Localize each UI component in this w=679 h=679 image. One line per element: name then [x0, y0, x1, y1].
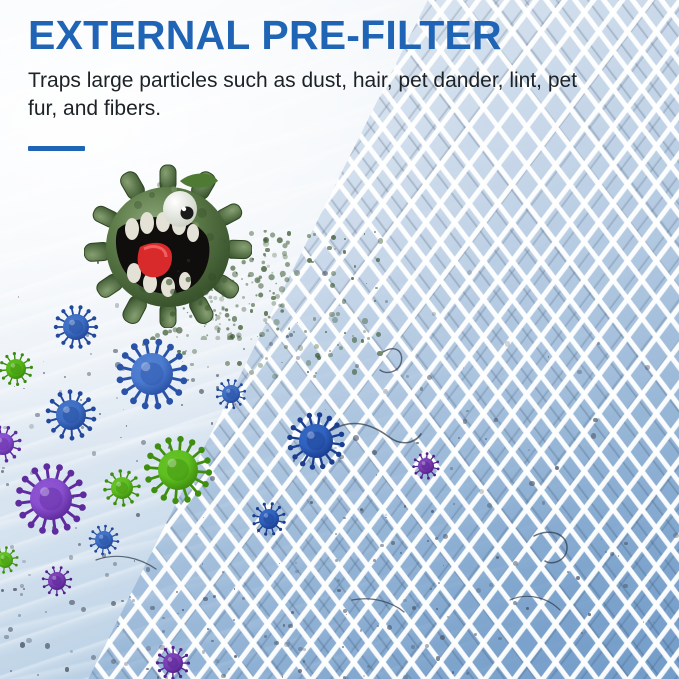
germ-disintegration-spray: [150, 230, 290, 340]
subtitle: Traps large particles such as dust, hair…: [28, 67, 603, 123]
text-block: EXTERNAL PRE-FILTER Traps large particle…: [28, 14, 628, 151]
accent-rule: [28, 146, 85, 151]
germ-eye-glint: [182, 207, 186, 211]
page-title: EXTERNAL PRE-FILTER: [28, 14, 628, 57]
infographic-canvas: EXTERNAL PRE-FILTER Traps large particle…: [0, 0, 679, 679]
